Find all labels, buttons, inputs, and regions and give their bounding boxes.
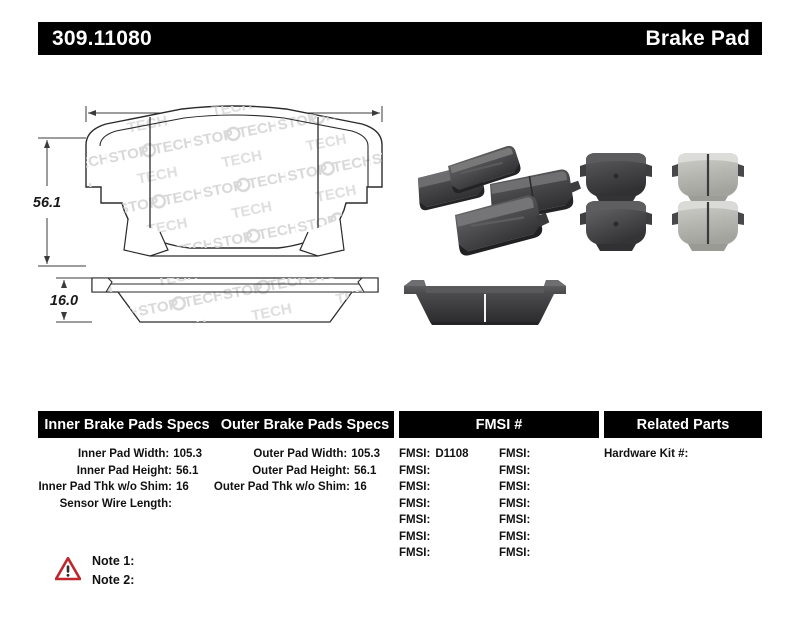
fmsi-label: FMSI:	[499, 545, 530, 562]
spec-label: Sensor Wire Length:	[60, 496, 172, 513]
fmsi-label: FMSI:	[499, 463, 530, 480]
fmsi-subcolumn-right: FMSI: FMSI: FMSI: FMSI:	[499, 446, 599, 562]
spec-value: 16	[176, 479, 202, 496]
column-header-related-parts: Related Parts	[604, 411, 762, 438]
spec-value: 56.1	[354, 463, 380, 480]
specifications-table: Inner Brake Pads Specs Outer Brake Pads …	[38, 411, 762, 558]
spec-row: Outer Pad Height: 56.1	[216, 463, 394, 480]
spec-value: 105.3	[173, 446, 202, 463]
warning-triangle-icon	[55, 556, 81, 582]
fmsi-label: FMSI:	[399, 496, 430, 513]
notes-text: Note 1: Note 2:	[92, 552, 134, 590]
spec-label: Outer Pad Thk w/o Shim:	[214, 479, 350, 496]
spec-label: Inner Pad Height:	[77, 463, 172, 480]
spec-row: Inner Pad Thk w/o Shim: 16	[38, 479, 216, 496]
fmsi-label: FMSI:	[499, 512, 530, 529]
notes-section: Note 1: Note 2:	[55, 552, 134, 590]
note-line-2: Note 2:	[92, 571, 134, 590]
note-line-1: Note 1:	[92, 552, 134, 571]
table-header-row: Inner Brake Pads Specs Outer Brake Pads …	[38, 411, 762, 438]
fmsi-row: FMSI:	[399, 479, 499, 496]
fmsi-row: FMSI:	[399, 529, 499, 546]
photo-pad-grid	[580, 153, 744, 251]
spec-label: Inner Pad Width:	[78, 446, 169, 463]
fmsi-row: FMSI:	[499, 496, 599, 513]
fmsi-label: FMSI:	[399, 545, 430, 562]
hardware-kit-row: Hardware Kit #:	[604, 446, 762, 463]
inner-specs-column: Inner Pad Width: 105.3 Inner Pad Height:…	[38, 446, 216, 512]
spec-value: 16	[354, 479, 380, 496]
spec-value: 105.3	[351, 446, 380, 463]
fmsi-row: FMSI:	[499, 529, 599, 546]
fmsi-label: FMSI:	[499, 529, 530, 546]
spec-row: Outer Pad Thk w/o Shim: 16	[216, 479, 394, 496]
product-spec-sheet: 309.11080 Brake Pad STOP TECH TECH	[0, 0, 800, 619]
column-header-outer-specs: Outer Brake Pads Specs	[216, 411, 394, 438]
spec-label: Outer Pad Width:	[253, 446, 347, 463]
outer-specs-column: Outer Pad Width: 105.3 Outer Pad Height:…	[216, 446, 394, 496]
fmsi-label: FMSI:	[499, 496, 530, 513]
fmsi-subcolumn-left: FMSI: D1108 FMSI: FMSI: FMSI:	[399, 446, 499, 562]
table-body: Inner Pad Width: 105.3 Inner Pad Height:…	[38, 438, 762, 558]
fmsi-row: FMSI:	[399, 512, 499, 529]
photo-pad-edge-view	[404, 280, 566, 325]
fmsi-row: FMSI:	[499, 545, 599, 562]
fmsi-label: FMSI:	[499, 479, 530, 496]
product-photos	[0, 60, 800, 360]
fmsi-column: FMSI: D1108 FMSI: FMSI: FMSI:	[399, 446, 599, 562]
spec-row: Inner Pad Width: 105.3	[38, 446, 216, 463]
photo-angled-pads	[415, 144, 583, 256]
column-header-fmsi: FMSI #	[399, 411, 599, 438]
fmsi-row: FMSI: D1108	[399, 446, 499, 463]
fmsi-row: FMSI:	[499, 512, 599, 529]
column-header-inner-specs: Inner Brake Pads Specs	[38, 411, 216, 438]
fmsi-label: FMSI:	[399, 512, 430, 529]
product-type: Brake Pad	[645, 28, 750, 49]
fmsi-value: D1108	[435, 446, 468, 463]
fmsi-label: FMSI:	[399, 446, 430, 463]
spec-value: 56.1	[176, 463, 202, 480]
fmsi-row: FMSI:	[399, 545, 499, 562]
fmsi-row: FMSI:	[399, 463, 499, 480]
title-bar: 309.11080 Brake Pad	[38, 22, 762, 55]
fmsi-label: FMSI:	[399, 479, 430, 496]
fmsi-row: FMSI:	[499, 446, 599, 463]
spec-row: Inner Pad Height: 56.1	[38, 463, 216, 480]
fmsi-label: FMSI:	[399, 463, 430, 480]
related-parts-column: Hardware Kit #:	[604, 446, 762, 463]
fmsi-row: FMSI:	[499, 479, 599, 496]
spec-label: Inner Pad Thk w/o Shim:	[38, 479, 172, 496]
spec-row: Sensor Wire Length:	[38, 496, 216, 513]
part-number: 309.11080	[52, 28, 152, 49]
spec-row: Outer Pad Width: 105.3	[216, 446, 394, 463]
fmsi-row: FMSI:	[499, 463, 599, 480]
fmsi-label: FMSI:	[399, 529, 430, 546]
fmsi-row: FMSI:	[399, 496, 499, 513]
spec-label: Outer Pad Height:	[252, 463, 350, 480]
fmsi-label: FMSI:	[499, 446, 530, 463]
